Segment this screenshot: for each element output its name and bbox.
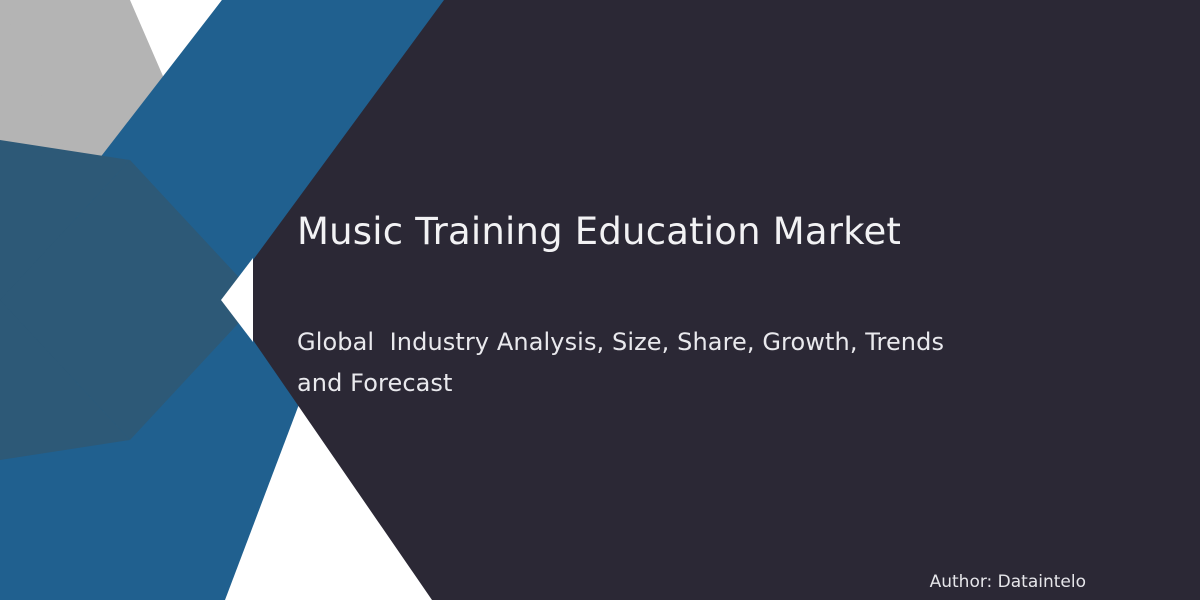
slide-text-layer: Music Training Education Market Global I…	[0, 0, 1200, 600]
title-slide: Music Training Education Market Global I…	[0, 0, 1200, 600]
page-title: Music Training Education Market	[297, 208, 1077, 256]
page-subtitle: Global Industry Analysis, Size, Share, G…	[297, 322, 957, 404]
author-credit: Author: Dataintelo	[0, 572, 1086, 592]
